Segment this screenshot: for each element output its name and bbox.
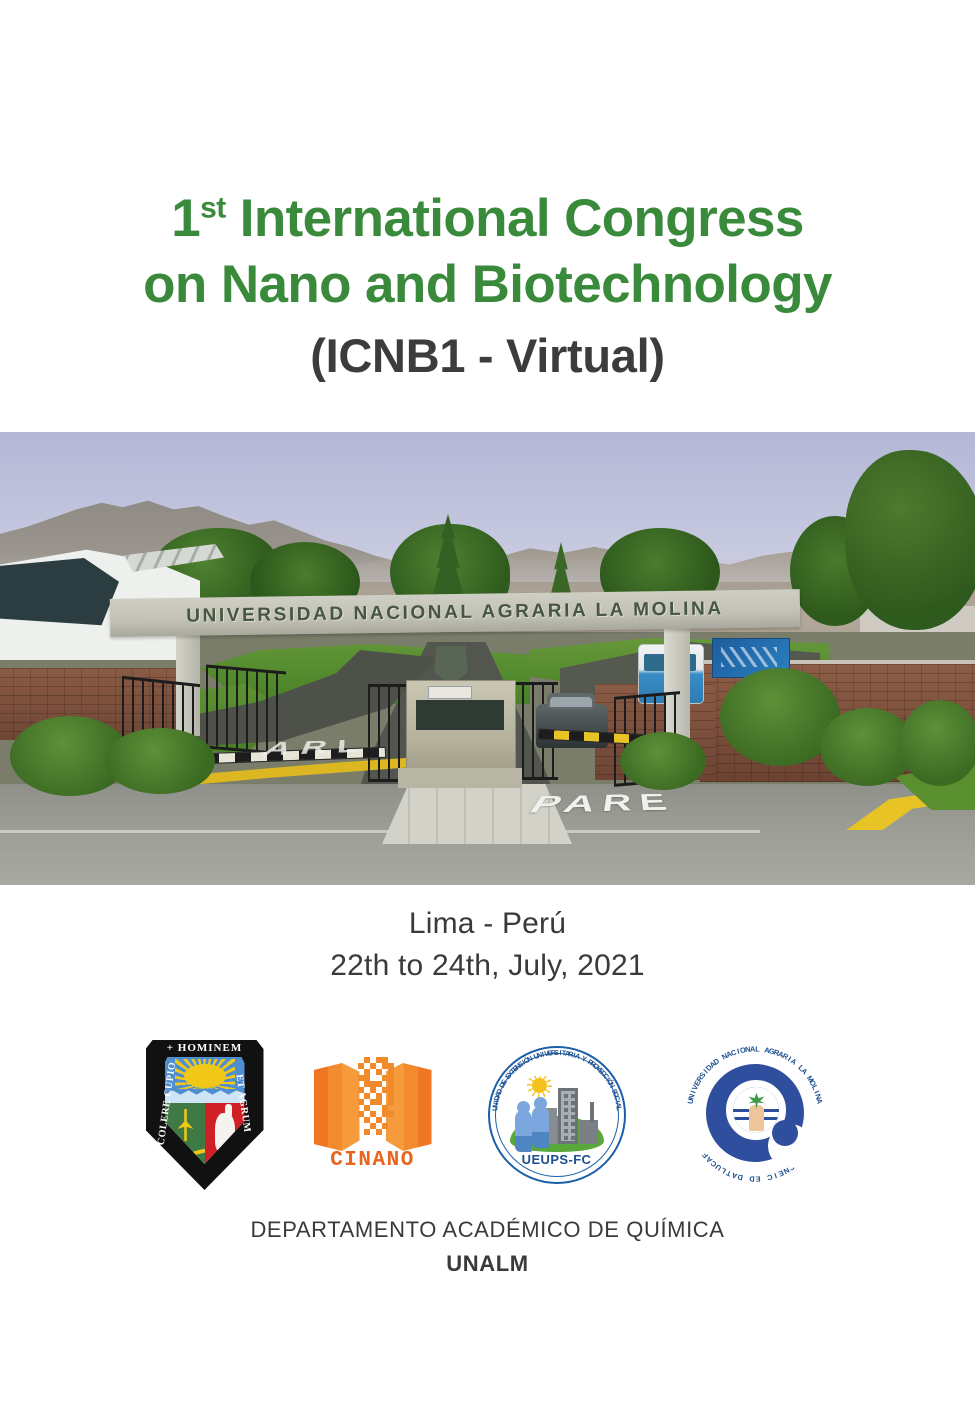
shrub-right-3 xyxy=(900,700,975,786)
congress-title-line-2: on Nano and Biotechnology xyxy=(0,252,975,318)
cinano-pixel xyxy=(376,1129,382,1135)
cinano-icon: CINANO xyxy=(312,1055,434,1175)
cinano-pixel xyxy=(382,1123,388,1129)
ueups-people-group xyxy=(514,1104,554,1152)
shield-motto: + HOMINEM COLERE CUPIO ET AGRUM xyxy=(146,1040,264,1190)
shield-motto-top: + HOMINEM xyxy=(146,1042,264,1054)
ueups-smokestack xyxy=(590,1102,594,1122)
congress-title-line-1: 1st International Congress xyxy=(0,186,975,252)
booth-sign-plate xyxy=(428,686,472,699)
shrub-center xyxy=(620,732,706,790)
arc-char: E xyxy=(755,1174,760,1183)
campus-gate-photo: UNIVERSIDAD NACIONAL AGRARIA LA MOLINA xyxy=(0,432,975,885)
facultad-hand-icon xyxy=(749,1105,764,1131)
ueups-person-1 xyxy=(515,1110,532,1152)
cinano-pixel xyxy=(388,1099,394,1105)
arc-char: S xyxy=(554,1049,559,1057)
logo-cinano: CINANO xyxy=(312,1055,434,1175)
arc-char: D xyxy=(736,1172,743,1182)
facultad-seal-icon: UNIVERSIDAD NACIONAL AGRARIA LA MOLINAFA… xyxy=(680,1040,830,1190)
unalm-shield-icon: + HOMINEM COLERE CUPIO ET AGRUM xyxy=(146,1040,264,1190)
arc-char: L xyxy=(755,1044,760,1053)
footer-institution: UNALM xyxy=(0,1247,975,1281)
shield-cross-icon: + xyxy=(167,1042,174,1054)
ueups-person-2 xyxy=(532,1106,549,1148)
arc-char: C xyxy=(766,1172,773,1182)
ueups-seal-icon: UNIDAD DE EXTENSIÓN UNIVERSITARIA Y PROY… xyxy=(482,1040,632,1190)
ordinal-suffix: st xyxy=(200,191,225,224)
arc-char: D xyxy=(749,1174,755,1183)
ueups-tower-building xyxy=(558,1088,578,1144)
shield-motto-top-text: HOMINEM xyxy=(178,1042,242,1054)
event-location: Lima - Perú xyxy=(0,903,975,945)
arc-char xyxy=(762,1174,765,1183)
road-seam-line xyxy=(0,830,760,833)
sponsor-logos-row: + HOMINEM COLERE CUPIO ET AGRUM CINANO U… xyxy=(0,1025,975,1205)
cinano-label: CINANO xyxy=(312,1149,434,1172)
event-dates: 22th to 24th, July, 2021 xyxy=(0,945,975,987)
shield-motto-right: ET AGRUM xyxy=(231,1058,254,1149)
shield-motto-left: COLERE CUPIO xyxy=(155,1058,178,1149)
ueups-sun-icon xyxy=(532,1078,547,1093)
cinano-pixel xyxy=(388,1111,394,1117)
logo-unalm-shield: + HOMINEM COLERE CUPIO ET AGRUM xyxy=(146,1040,264,1190)
cinano-pixel-pattern xyxy=(352,1057,396,1139)
facultad-inner-ring-cut xyxy=(772,1120,798,1146)
footer-department: DEPARTAMENTO ACADÉMICO DE QUÍMICA xyxy=(0,1213,975,1247)
booth-base xyxy=(398,768,522,788)
ueups-factory-building xyxy=(580,1120,598,1144)
event-details: Lima - Perú 22th to 24th, July, 2021 xyxy=(0,903,975,987)
booth-window xyxy=(416,700,504,730)
cinano-pixel xyxy=(364,1129,370,1135)
tree-right-large xyxy=(845,450,975,630)
congress-title-rest: International Congress xyxy=(226,189,804,248)
shrub-left-2 xyxy=(105,728,215,794)
logo-ueups-fc: UNIDAD DE EXTENSIÓN UNIVERSITARIA Y PROY… xyxy=(482,1040,632,1190)
arc-char: A xyxy=(814,1098,824,1105)
ueups-scene xyxy=(510,1076,604,1152)
ordinal-number: 1 xyxy=(171,189,200,248)
congress-subtitle: (ICNB1 - Virtual) xyxy=(0,324,975,388)
arc-char: L xyxy=(614,1106,622,1111)
facultad-emblem-field xyxy=(733,1087,779,1133)
footer-block: DEPARTAMENTO ACADÉMICO DE QUÍMICA UNALM xyxy=(0,1213,975,1281)
title-block: 1st International Congress on Nano and B… xyxy=(0,0,975,388)
arc-char: I xyxy=(773,1171,778,1180)
arc-char xyxy=(744,1174,747,1183)
logo-facultad-ciencias: UNIVERSIDAD NACIONAL AGRARIA LA MOLINAFA… xyxy=(680,1040,830,1190)
ueups-label: UEUPS-FC xyxy=(482,1152,632,1167)
